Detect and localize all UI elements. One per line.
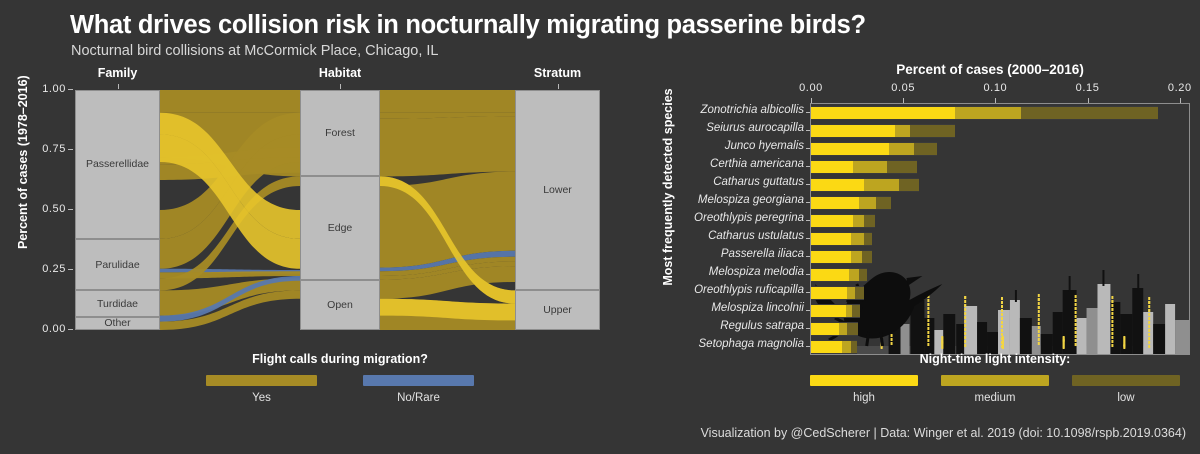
skyline-window <box>1111 320 1113 323</box>
skyline-building <box>1165 304 1175 354</box>
bar-segment-high[interactable] <box>811 250 851 264</box>
skyline-window <box>1038 342 1040 345</box>
skyline-window <box>1075 299 1077 302</box>
page-subtitle: Nocturnal bird collisions at McCormick P… <box>71 43 438 59</box>
light-intensity-legend-item-low[interactable]: low <box>1072 375 1180 404</box>
skyline-window <box>927 315 929 318</box>
skyline-window <box>1038 338 1040 341</box>
skyline-window <box>1038 318 1040 321</box>
skyline-window <box>1075 331 1077 334</box>
skyline-window <box>927 335 929 338</box>
skyline-window <box>1038 330 1040 333</box>
skyline-window <box>964 312 966 315</box>
bar-segment-medium[interactable] <box>864 178 899 192</box>
alluvial-node-label: Open <box>301 299 379 311</box>
skyline-building <box>1132 288 1143 354</box>
skyline-spire <box>1015 290 1017 302</box>
bar-category-label: Zonotrichia albicollis <box>640 104 804 116</box>
bar-segment-high[interactable] <box>811 124 895 138</box>
skyline-window <box>1038 302 1040 305</box>
bar-segment-high[interactable] <box>811 286 847 300</box>
skyline-window <box>1148 341 1150 344</box>
alluvial-node-label: Edge <box>301 222 379 234</box>
skyline-window <box>1123 345 1125 347</box>
alluvial-node-label: Lower <box>516 184 599 196</box>
skyline-building <box>987 332 998 354</box>
skyline-window <box>1111 316 1113 319</box>
skyline-building <box>1041 334 1053 354</box>
bar-segment-medium[interactable] <box>847 286 855 300</box>
skyline-spire <box>1102 270 1104 286</box>
bar-x-tick-label: 0.05 <box>891 82 915 94</box>
bar-segment-high[interactable] <box>811 106 955 120</box>
skyline-window <box>1111 312 1113 315</box>
bar-row[interactable] <box>811 214 875 228</box>
skyline-window <box>1148 309 1150 312</box>
bar-segment-medium[interactable] <box>853 160 886 174</box>
skyline-building <box>1077 318 1087 354</box>
flight-calls-legend-item-no-rare[interactable]: No/Rare <box>363 375 474 404</box>
bar-segment-low[interactable] <box>852 304 859 318</box>
skyline-window <box>1111 324 1113 327</box>
skyline-window <box>1148 329 1150 332</box>
alluvial-node-label: Turdidae <box>76 298 159 310</box>
bar-segment-low[interactable] <box>914 142 937 156</box>
skyline-window <box>1148 321 1150 324</box>
bar-segment-low[interactable] <box>859 268 867 282</box>
bar-x-tick-label: 0.00 <box>799 82 823 94</box>
bird-beak <box>906 276 922 286</box>
skyline-window <box>1075 311 1077 314</box>
skyline-window <box>1075 307 1077 310</box>
bar-row[interactable] <box>811 232 872 246</box>
skyline-window <box>1075 303 1077 306</box>
skyline-window <box>1075 295 1077 298</box>
bar-segment-medium[interactable] <box>839 322 847 336</box>
skyline-window <box>891 342 893 345</box>
skyline-window <box>1038 314 1040 317</box>
legend-label: low <box>1072 392 1180 404</box>
alluvial-flow[interactable] <box>380 90 515 113</box>
skyline-building <box>1153 324 1165 354</box>
skyline-window <box>1075 339 1077 342</box>
skyline-window <box>1038 322 1040 325</box>
skyline-building <box>977 322 987 354</box>
skyline-window <box>1075 343 1077 346</box>
skyline-window <box>1075 315 1077 318</box>
bar-category-label: Seiurus aurocapilla <box>640 122 804 134</box>
skyline-window <box>964 344 966 347</box>
skyline-window <box>1148 305 1150 308</box>
skyline-window <box>1075 335 1077 338</box>
skyline-building <box>1097 284 1110 354</box>
skyline-window <box>891 338 893 341</box>
skyline-building <box>1010 300 1020 354</box>
bar-segment-low[interactable] <box>887 160 917 174</box>
skyline-building <box>1120 314 1132 354</box>
alluvial-node-turdidae[interactable]: Turdidae <box>75 290 160 316</box>
skyline-building <box>1020 318 1032 354</box>
legend-swatch <box>206 375 317 386</box>
bar-segment-medium[interactable] <box>849 268 859 282</box>
skyline-building <box>1087 308 1098 354</box>
bar-row[interactable] <box>811 178 919 192</box>
skyline-building <box>1063 290 1077 354</box>
bar-segment-high[interactable] <box>811 304 846 318</box>
skyline-window <box>1148 345 1150 348</box>
bar-segment-low[interactable] <box>847 322 858 336</box>
skyline-window <box>1148 325 1150 328</box>
light-intensity-legend: Night-time light intensity: highmediumlo… <box>800 352 1190 404</box>
skyline-window <box>964 320 966 323</box>
alluvial-flow[interactable] <box>160 90 300 113</box>
skyline-window <box>1148 337 1150 340</box>
skyline-window <box>927 343 929 346</box>
alluvial-node-parulidae[interactable]: Parulidae <box>75 239 160 291</box>
skyline-window <box>1038 334 1040 337</box>
skyline-window <box>1111 304 1113 307</box>
skyline-window <box>1111 332 1113 335</box>
bar-row[interactable] <box>811 250 872 264</box>
skyline-window <box>927 303 929 306</box>
bar-segment-high[interactable] <box>811 160 853 174</box>
alluvial-node-passerellidae[interactable]: Passerellidae <box>75 90 160 239</box>
skyline-window <box>927 327 929 330</box>
skyline-window <box>964 332 966 335</box>
skyline-window <box>927 331 929 334</box>
skyline-spire <box>1069 276 1071 292</box>
light-intensity-legend-item-medium[interactable]: medium <box>941 375 1049 404</box>
bar-segment-high[interactable] <box>811 214 853 228</box>
bar-segment-medium[interactable] <box>853 214 863 228</box>
skyline-window <box>1001 313 1003 316</box>
alluvial-node-edge[interactable]: Edge <box>300 176 380 279</box>
bar-row[interactable] <box>811 268 867 282</box>
bar-segment-low[interactable] <box>855 286 863 300</box>
bar-x-tick-label: 0.20 <box>1168 82 1192 94</box>
light-intensity-legend-item-high[interactable]: high <box>810 375 918 404</box>
skyline-window <box>964 296 966 299</box>
skyline-window <box>1063 347 1065 349</box>
legend-label: high <box>810 392 918 404</box>
skyline-window <box>1038 310 1040 313</box>
legend-label: medium <box>941 392 1049 404</box>
skyline-window <box>1111 328 1113 331</box>
bar-x-tick-label: 0.15 <box>1076 82 1100 94</box>
alluvial-node-label: Parulidae <box>76 259 159 271</box>
bar-segment-high[interactable] <box>811 268 849 282</box>
bar-category-label: Melospiza lincolnii <box>640 302 804 314</box>
legend-swatch <box>810 375 918 386</box>
skyline-building <box>901 324 910 354</box>
alluvial-flow[interactable] <box>380 116 515 176</box>
skyline-window <box>927 311 929 314</box>
skyline-window <box>927 299 929 302</box>
bar-row[interactable] <box>811 124 955 138</box>
skyline-window <box>1111 308 1113 311</box>
bar-category-label: Junco hyemalis <box>640 140 804 152</box>
alluvial-node-forest[interactable]: Forest <box>300 90 380 176</box>
alluvial-node-label: Forest <box>301 127 379 139</box>
bar-plot-area <box>810 103 1190 355</box>
skyline-window <box>1001 333 1003 336</box>
skyline-window <box>1075 319 1077 322</box>
bar-row[interactable] <box>811 286 864 300</box>
skyline-window <box>1063 340 1065 342</box>
skyline-window <box>1001 317 1003 320</box>
skyline-building <box>943 314 955 354</box>
skyline-window <box>927 319 929 322</box>
skyline-window <box>1038 294 1040 297</box>
legend-swatch <box>1072 375 1180 386</box>
legend-label: Yes <box>206 392 317 404</box>
skyline-window <box>1111 296 1113 299</box>
light-intensity-legend-title: Night-time light intensity: <box>800 352 1190 366</box>
skyline-window <box>1148 317 1150 320</box>
bar-category-label: Catharus ustulatus <box>640 230 804 242</box>
bar-row[interactable] <box>811 142 937 156</box>
skyline-window <box>941 347 943 349</box>
bar-category-label: Certhia americana <box>640 158 804 170</box>
bar-row[interactable] <box>811 196 891 210</box>
skyline-window <box>964 324 966 327</box>
skyline-spire <box>1137 274 1139 290</box>
skyline-window <box>1001 305 1003 308</box>
skyline-window <box>1002 347 1004 349</box>
flight-calls-legend-item-yes[interactable]: Yes <box>206 375 317 404</box>
alluvial-node-label: Upper <box>516 304 599 316</box>
bar-segment-low[interactable] <box>1021 106 1157 120</box>
skyline-window <box>927 307 929 310</box>
bar-chart-title: Percent of cases (2000–2016) <box>790 62 1190 77</box>
skyline-window <box>964 308 966 311</box>
skyline-window <box>1111 344 1113 347</box>
legend-label: No/Rare <box>363 392 474 404</box>
species-bar-panel: Percent of cases (2000–2016) Most freque… <box>640 60 1200 350</box>
bar-category-label: Regulus satrapa <box>640 320 804 332</box>
skyline-window <box>1038 306 1040 309</box>
bar-segment-medium[interactable] <box>889 142 914 156</box>
skyline-window <box>1075 323 1077 326</box>
bar-segment-medium[interactable] <box>851 250 862 264</box>
bar-category-label: Catharus guttatus <box>640 176 804 188</box>
skyline-window <box>1038 326 1040 329</box>
skyline-window <box>964 300 966 303</box>
credits-caption: Visualization by @CedScherer | Data: Win… <box>701 426 1186 440</box>
alluvial-panel: Percent of cases (1978–2016) 1.000.750.5… <box>0 60 620 350</box>
bar-category-label: Melospiza georgiana <box>640 194 804 206</box>
visualization-root: What drives collision risk in nocturnall… <box>0 0 1200 454</box>
skyline-window <box>1001 301 1003 304</box>
skyline-window <box>1001 297 1003 300</box>
skyline-window <box>881 347 883 349</box>
bar-category-label: Oreothlypis peregrina <box>640 212 804 224</box>
bar-segment-high[interactable] <box>811 142 889 156</box>
bar-x-tick-label: 0.10 <box>983 82 1007 94</box>
bar-row[interactable] <box>811 322 858 336</box>
flight-calls-legend: Flight calls during migration? YesNo/Rar… <box>185 352 495 404</box>
bar-segment-low[interactable] <box>864 214 875 228</box>
bar-segment-medium[interactable] <box>859 196 877 210</box>
skyline-window <box>941 342 943 344</box>
bar-segment-medium[interactable] <box>851 232 865 246</box>
alluvial-node-label: Other <box>76 317 159 329</box>
alluvial-node-open[interactable]: Open <box>300 280 380 330</box>
skyline-window <box>964 336 966 339</box>
bar-segment-medium[interactable] <box>895 124 910 138</box>
skyline-window <box>1148 301 1150 304</box>
bar-category-label: Melospiza melodia <box>640 266 804 278</box>
skyline-window <box>964 316 966 319</box>
alluvial-node-other[interactable]: Other <box>75 317 160 330</box>
flight-calls-legend-title: Flight calls during migration? <box>185 352 495 366</box>
skyline-window <box>1148 333 1150 336</box>
skyline-window <box>1123 347 1125 349</box>
flight-calls-legend-items: YesNo/Rare <box>185 375 495 404</box>
bar-row[interactable] <box>811 106 1158 120</box>
bar-category-label: Passerella iliaca <box>640 248 804 260</box>
bar-category-label: Oreothlypis ruficapilla <box>640 284 804 296</box>
skyline-window <box>927 323 929 326</box>
skyline-window <box>1148 313 1150 316</box>
skyline-building <box>1175 320 1189 354</box>
skyline-window <box>964 328 966 331</box>
bar-segment-medium[interactable] <box>955 106 1021 120</box>
skyline-window <box>1038 298 1040 301</box>
skyline-window <box>964 340 966 343</box>
skyline-window <box>1001 321 1003 324</box>
alluvial-node-upper[interactable]: Upper <box>515 290 600 330</box>
page-title: What drives collision risk in nocturnall… <box>70 11 866 40</box>
alluvial-node-label: Passerellidae <box>76 158 159 170</box>
skyline-window <box>927 339 929 342</box>
skyline-window <box>1148 297 1150 300</box>
legend-swatch <box>363 375 474 386</box>
bar-row[interactable] <box>811 160 917 174</box>
bar-segment-low[interactable] <box>864 232 871 246</box>
bar-category-label: Setophaga magnolia <box>640 338 804 350</box>
bar-segment-low[interactable] <box>910 124 955 138</box>
bar-segment-low[interactable] <box>899 178 919 192</box>
skyline-building <box>1053 312 1063 354</box>
skyline-window <box>1001 309 1003 312</box>
bar-segment-low[interactable] <box>876 196 891 210</box>
skyline-window <box>1111 336 1113 339</box>
bar-segment-high[interactable] <box>811 322 839 336</box>
skyline-window <box>1075 327 1077 330</box>
skyline-window <box>1111 340 1113 343</box>
bar-segment-low[interactable] <box>862 250 872 264</box>
light-intensity-legend-items: highmediumlow <box>800 375 1190 404</box>
bar-segment-high[interactable] <box>811 178 864 192</box>
skyline-window <box>1111 300 1113 303</box>
skyline-building <box>956 324 964 354</box>
skyline-window <box>964 304 966 307</box>
skyline-window <box>891 334 893 337</box>
bar-segment-high[interactable] <box>811 232 851 246</box>
alluvial-node-lower[interactable]: Lower <box>515 90 600 290</box>
legend-swatch <box>941 375 1049 386</box>
skyline-window <box>1001 325 1003 328</box>
bar-segment-high[interactable] <box>811 196 859 210</box>
skyline-window <box>1001 329 1003 332</box>
bar-row[interactable] <box>811 304 860 318</box>
